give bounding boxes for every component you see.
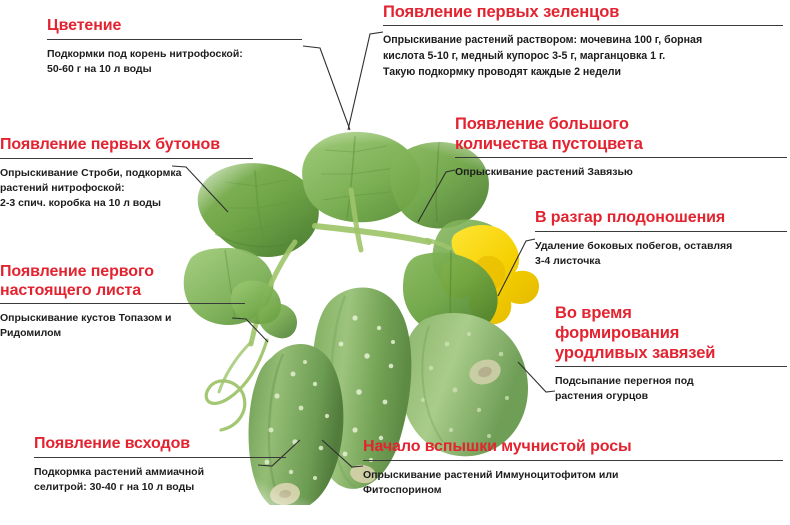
callout-flowering: Цветение Подкормки под корень нитрофоско… [47, 17, 302, 77]
callout-sprouts-rule [34, 457, 286, 458]
callout-first-true-leaf-title: Появление первого настоящего листа [0, 262, 245, 300]
callout-powdery-mildew: Начало вспышки мучнистой росы Опрыскиван… [363, 438, 783, 498]
callout-sprouts: Появление всходов Подкормка растений амм… [34, 435, 286, 495]
leaf-under-flower [403, 250, 498, 336]
callout-first-buds-body: Опрыскивание Строби, подкормка растений … [0, 166, 253, 211]
callout-first-true-leaf: Появление первого настоящего листа Опрыс… [0, 262, 245, 341]
callout-first-true-leaf-body: Опрыскивание кустов Топазом и Ридомилом [0, 311, 245, 341]
callout-first-greens: Появление первых зеленцов Опрыскивание р… [383, 3, 783, 81]
callout-barren-flowers-title: Появление большого количества пустоцвета [455, 114, 787, 154]
stems-and-tendrils [206, 190, 477, 430]
callout-first-buds-rule [0, 158, 253, 159]
callout-sprouts-title: Появление всходов [34, 435, 286, 454]
connector-first-greens [348, 32, 383, 130]
callout-peak-fruiting: В разгар плодоношения Удаление боковых п… [535, 209, 787, 269]
callout-ugly-ovaries-rule [555, 366, 787, 367]
callout-ugly-ovaries-body: Подсыпание перегноя под растения огурцов [555, 374, 787, 404]
connector-flowering [303, 46, 350, 130]
callout-barren-flowers: Появление большого количества пустоцвета… [455, 114, 787, 180]
infographic-canvas: Цветение Подкормки под корень нитрофоско… [0, 0, 790, 525]
callout-flowering-title: Цветение [47, 17, 302, 36]
callout-peak-fruiting-body: Удаление боковых побегов, оставляя 3-4 л… [535, 239, 787, 269]
callout-powdery-mildew-rule [363, 460, 783, 461]
callout-peak-fruiting-rule [535, 231, 787, 232]
callout-first-true-leaf-rule [0, 303, 245, 304]
callout-flowering-rule [47, 39, 302, 40]
callout-sprouts-body: Подкормка растений аммиачной селитрой: 3… [34, 465, 286, 495]
connector-ugly-ovaries [518, 362, 555, 392]
callout-first-buds-title: Появление первых бутонов [0, 136, 253, 155]
callout-first-greens-body: Опрыскивание растений раствором: мочевин… [383, 33, 783, 81]
callout-flowering-body: Подкормки под корень нитрофоской: 50-60 … [47, 47, 302, 77]
callout-first-greens-title: Появление первых зеленцов [383, 3, 783, 22]
callout-ugly-ovaries: Во время формирования уродливых завязей … [555, 303, 787, 404]
connector-peak-fruiting [498, 239, 535, 296]
callout-ugly-ovaries-title: Во время формирования уродливых завязей [555, 303, 787, 363]
callout-first-buds: Появление первых бутонов Опрыскивание Ст… [0, 136, 253, 211]
callout-first-greens-rule [383, 25, 783, 26]
callout-barren-flowers-rule [455, 157, 787, 158]
callout-powdery-mildew-body: Опрыскивание растений Иммуноцитофитом ил… [363, 468, 783, 498]
callout-peak-fruiting-title: В разгар плодоношения [535, 209, 787, 228]
connector-powdery-mildew [322, 440, 363, 467]
callout-powdery-mildew-title: Начало вспышки мучнистой росы [363, 438, 783, 457]
connector-barren-flowers [418, 170, 455, 222]
cucumber-flower [441, 225, 539, 324]
callout-barren-flowers-body: Опрыскивание растений Завязью [455, 165, 787, 180]
cucumber-right [400, 313, 528, 456]
